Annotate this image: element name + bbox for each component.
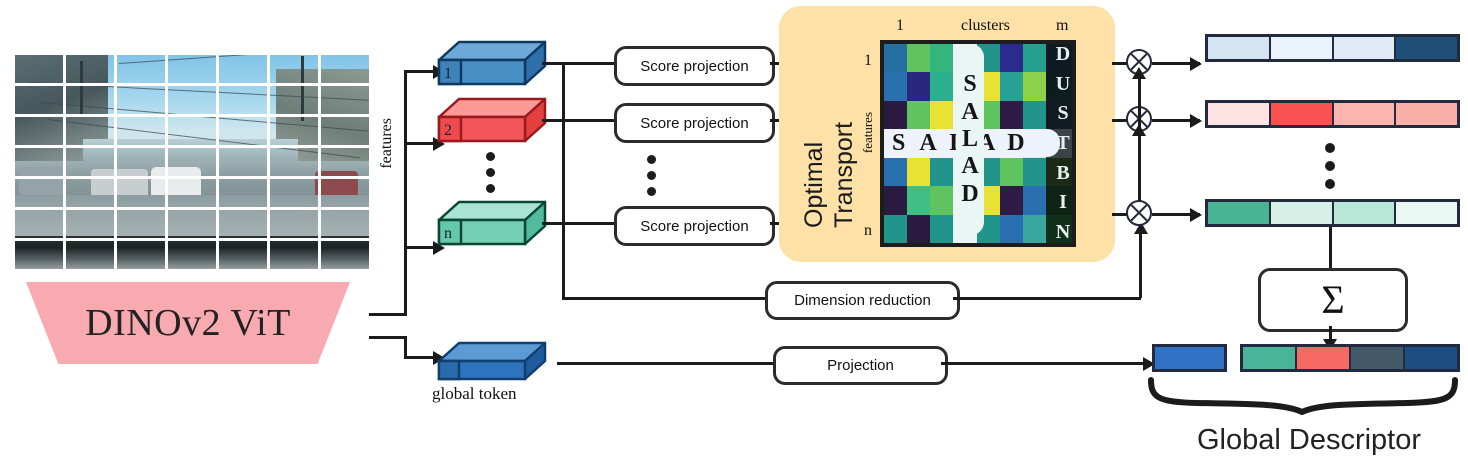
dimension-reduction-out-line	[953, 297, 1141, 300]
dustbin-letter-2: S	[1050, 99, 1076, 129]
mul1-to-vector-arrow	[1190, 57, 1202, 71]
to-dimension-reduction-line	[562, 297, 765, 300]
vec-red-seg-1	[1271, 103, 1332, 125]
vec-green-seg-1	[1271, 202, 1332, 224]
features-axis-label: features	[378, 118, 396, 169]
dustbin-letter-3: T	[1050, 129, 1076, 159]
score-projection-label-2: Score projection	[640, 115, 748, 132]
score-projection-box-2[interactable]: Score projection	[614, 103, 775, 143]
global-descriptor-label: Global Descriptor	[1150, 424, 1468, 457]
gd-agg-seg-2	[1351, 347, 1403, 369]
matrix-cell-5-1	[907, 186, 930, 214]
score-projection-ellipsis	[647, 155, 656, 196]
optimal-transport-title-line2: Transport	[830, 40, 859, 228]
feature-token-ellipsis	[486, 152, 495, 193]
cluster-vector-green	[1205, 199, 1460, 227]
dustbin-column: DUSTBIN	[1050, 40, 1076, 247]
dinov2-vit-label: DINOv2 ViT	[8, 282, 368, 364]
feature-branch-2	[404, 142, 435, 145]
backbone-out-line-top	[369, 313, 407, 316]
global-token-bar	[437, 333, 547, 383]
matrix-cell-0-6	[1023, 44, 1046, 72]
vec-red-seg-2	[1334, 103, 1395, 125]
patch-grid-overlay	[12, 52, 369, 269]
global-descriptor-brace	[1145, 376, 1465, 416]
matrix-cell-6-6	[1023, 215, 1046, 243]
mul-chain-arrow-2	[1132, 124, 1146, 136]
matrix-cell-0-0	[884, 44, 907, 72]
vec-blue-seg-2	[1334, 37, 1395, 59]
dustbin-letter-4: B	[1050, 158, 1076, 188]
feature-token-2: 2	[437, 95, 547, 145]
matrix-cell-2-2	[930, 101, 953, 129]
dimension-reduction-up-line	[1139, 232, 1142, 298]
global-descriptor-token-part	[1152, 344, 1227, 372]
sum-symbol: Σ	[1321, 280, 1344, 320]
matrix-cell-1-2	[930, 72, 953, 100]
global-token-trunk	[404, 336, 407, 358]
mul2-to-vector-arrow	[1190, 114, 1202, 128]
feature-token-n-number: n	[444, 225, 452, 243]
salad-v-letter-3: A	[961, 153, 978, 180]
global-token-to-projection-line	[557, 362, 775, 365]
matrix-cell-1-6	[1023, 72, 1046, 100]
vector-to-sum-line	[1329, 227, 1332, 268]
sum-box[interactable]: Σ	[1258, 268, 1408, 332]
backbone-out-line-bottom	[369, 336, 407, 339]
score-projection-box-3[interactable]: Score projection	[614, 206, 775, 246]
salad-architecture-diagram: DINOv2 ViT features 1 2	[0, 0, 1468, 470]
features-axis-start-label: 1	[864, 52, 872, 70]
mul3-to-vector-arrow	[1190, 208, 1202, 222]
matrix-cell-2-6	[1023, 101, 1046, 129]
dustbin-letter-1: U	[1050, 70, 1076, 100]
matrix-cell-4-0	[884, 158, 907, 186]
matrix-cell-2-0	[884, 101, 907, 129]
feature-token-1: 1	[437, 38, 547, 88]
cluster-vector-red	[1205, 100, 1460, 128]
salad-v-letter-1: A	[961, 99, 978, 126]
optimal-transport-title: Optimal Transport	[800, 40, 862, 230]
matrix-cell-6-0	[884, 215, 907, 243]
multiply-node-3	[1126, 200, 1152, 226]
score-projection-label-1: Score projection	[640, 58, 748, 75]
projection-box[interactable]: Projection	[773, 346, 948, 385]
matrix-cell-6-2	[930, 215, 953, 243]
matrix-cell-4-6	[1023, 158, 1046, 186]
salad-h-letter-0: S	[884, 130, 913, 157]
cluster-vector-blue	[1205, 34, 1460, 62]
global-descriptor-aggregated-part	[1240, 344, 1460, 372]
vec-red-seg-0	[1208, 103, 1269, 125]
vec-blue-seg-3	[1396, 37, 1457, 59]
dimension-reduction-label: Dimension reduction	[794, 292, 931, 309]
salad-v-letter-4: D	[961, 180, 978, 207]
matrix-cell-4-5	[1000, 158, 1023, 186]
input-patch-image	[12, 52, 369, 269]
vec-blue-seg-1	[1271, 37, 1332, 59]
salad-word-vertical: S A L A D	[956, 44, 984, 235]
mul-chain-line	[1138, 75, 1141, 201]
salad-v-letter-2: L	[962, 126, 978, 153]
dustbin-letter-5: I	[1050, 188, 1076, 218]
features-axis-end-label: n	[864, 222, 872, 240]
projection-label: Projection	[827, 357, 894, 374]
vec-green-seg-0	[1208, 202, 1269, 224]
feature-branch-1	[404, 70, 435, 73]
dustbin-letter-0: D	[1050, 40, 1076, 70]
gd-agg-seg-0	[1243, 347, 1295, 369]
feature-token-n: n	[437, 198, 547, 248]
tokenn-to-score-line	[542, 222, 614, 225]
matrix-cell-0-5	[1000, 44, 1023, 72]
global-token-label: global token	[432, 384, 517, 404]
vec-green-seg-2	[1334, 202, 1395, 224]
matrix-cell-1-0	[884, 72, 907, 100]
gd-agg-seg-3	[1405, 347, 1457, 369]
projection-out-line	[941, 362, 1146, 365]
matrix-cell-2-5	[1000, 101, 1023, 129]
gd-agg-seg-1	[1297, 347, 1349, 369]
optimal-transport-title-line1: Optimal	[800, 40, 829, 228]
matrix-cell-5-6	[1023, 186, 1046, 214]
ot-features-axis-label: features	[860, 112, 876, 153]
vec-red-seg-3	[1396, 103, 1457, 125]
matrix-cell-6-5	[1000, 215, 1023, 243]
salad-h-letter-1: A	[913, 130, 942, 157]
matrix-cell-5-0	[884, 186, 907, 214]
matrix-cell-1-1	[907, 72, 930, 100]
token1-to-score-line	[542, 62, 614, 65]
global-token-branch	[404, 356, 435, 359]
salad-h-letter-4: D	[1001, 130, 1030, 157]
matrix-cell-5-2	[930, 186, 953, 214]
matrix-cell-4-1	[907, 158, 930, 186]
clusters-axis-start-label: 1	[896, 17, 904, 35]
token2-to-score-line	[542, 119, 614, 122]
cluster-vector-ellipsis	[1325, 143, 1335, 189]
vec-blue-seg-0	[1208, 37, 1269, 59]
assignment-matrix: S A L A D S A L A D DUSTBIN	[880, 40, 1076, 247]
feature-token-2-number: 2	[444, 122, 452, 140]
matrix-cell-1-5	[1000, 72, 1023, 100]
feature-branch-n	[404, 246, 435, 249]
score-projection-box-1[interactable]: Score projection	[614, 46, 775, 86]
matrix-cell-0-1	[907, 44, 930, 72]
token-collector-line	[562, 62, 565, 300]
matrix-cell-6-1	[907, 215, 930, 243]
matrix-cell-2-1	[907, 101, 930, 129]
features-trunk-line	[404, 70, 407, 316]
feature-token-1-number: 1	[444, 65, 452, 83]
matrix-cell-0-2	[930, 44, 953, 72]
salad-v-letter-0: S	[963, 71, 976, 98]
vec-green-seg-3	[1396, 202, 1457, 224]
mul-chain-arrow-1	[1132, 67, 1146, 79]
gd-token-seg	[1155, 347, 1224, 369]
dustbin-letter-6: N	[1050, 217, 1076, 247]
dimension-reduction-box[interactable]: Dimension reduction	[765, 281, 960, 320]
score-projection-label-3: Score projection	[640, 218, 748, 235]
matrix-cell-5-5	[1000, 186, 1023, 214]
matrix-cell-4-2	[930, 158, 953, 186]
clusters-axis-label: clusters	[961, 17, 1010, 35]
clusters-axis-end-label: m	[1056, 17, 1068, 35]
